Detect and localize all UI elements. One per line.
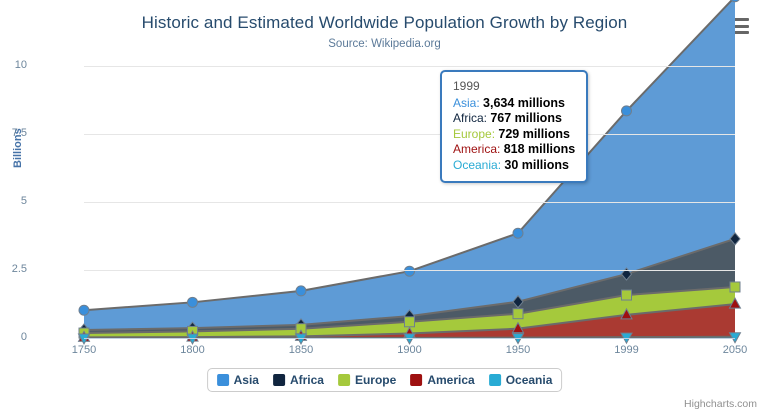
legend-item-africa[interactable]: Africa [273,373,324,387]
legend-label: Africa [290,373,324,387]
legend-swatch-america [410,374,422,386]
x-axis-tick-1950: 1950 [488,344,548,356]
legend-swatch-asia [217,374,229,386]
tooltip-series-name: Africa: [453,111,490,125]
chart-subtitle: Source: Wikipedia.org [0,38,769,50]
gridline-2.5 [84,270,735,271]
tooltip-row-america: America: 818 millions [453,142,575,158]
x-axis-tick-1999: 1999 [597,344,657,356]
tooltip-rows: Asia: 3,634 millionsAfrica: 767 millions… [453,96,575,174]
legend-item-asia[interactable]: Asia [217,373,259,387]
tooltip-series-name: Asia: [453,96,483,110]
highcharts-container: Historic and Estimated Worldwide Populat… [0,0,769,416]
tooltip-series-name: Europe: [453,127,498,141]
tooltip-series-value: 729 millions [498,127,570,141]
tooltip-series-name: America: [453,142,504,156]
tooltip-series-value: 3,634 millions [483,96,565,110]
x-axis-tick-1900: 1900 [380,344,440,356]
chart-legend[interactable]: AsiaAfricaEuropeAmericaOceania [207,368,563,392]
plot-area [84,66,735,338]
x-axis-tick-2050: 2050 [705,344,765,356]
gridline-5 [84,202,735,203]
tooltip-row-oceania: Oceania: 30 millions [453,158,575,174]
tooltip-series-value: 30 millions [504,158,569,172]
x-axis-tick-1850: 1850 [271,344,331,356]
gridline-7.5 [84,134,735,135]
x-axis-tick-1750: 1750 [54,344,114,356]
credits-label[interactable]: Highcharts.com [684,398,757,410]
tooltip-series-value: 767 millions [490,111,562,125]
legend-label: Europe [355,373,396,387]
x-axis-tick-1800: 1800 [163,344,223,356]
y-axis-tick-2.5: 2.5 [0,263,27,275]
series-tooltip: 1999 Asia: 3,634 millionsAfrica: 767 mil… [440,70,588,183]
chart-title: Historic and Estimated Worldwide Populat… [0,13,769,33]
legend-item-europe[interactable]: Europe [338,373,396,387]
y-axis-tick-0: 0 [0,331,27,343]
legend-swatch-africa [273,374,285,386]
legend-item-oceania[interactable]: Oceania [489,373,553,387]
tooltip-row-europe: Europe: 729 millions [453,127,575,143]
tooltip-series-value: 818 millions [504,142,576,156]
tooltip-series-name: Oceania: [453,158,504,172]
legend-label: Asia [234,373,259,387]
legend-label: Oceania [506,373,553,387]
y-axis-tick-10: 10 [0,59,27,71]
legend-swatch-europe [338,374,350,386]
tooltip-row-asia: Asia: 3,634 millions [453,96,575,112]
gridline-10 [84,66,735,67]
tooltip-header: 1999 [453,79,575,96]
tooltip-row-africa: Africa: 767 millions [453,111,575,127]
y-axis-tick-5: 5 [0,195,27,207]
gridline-0 [84,338,735,339]
legend-label: America [427,373,474,387]
legend-swatch-oceania [489,374,501,386]
legend-item-america[interactable]: America [410,373,474,387]
y-axis-tick-7.5: 7.5 [0,127,27,139]
